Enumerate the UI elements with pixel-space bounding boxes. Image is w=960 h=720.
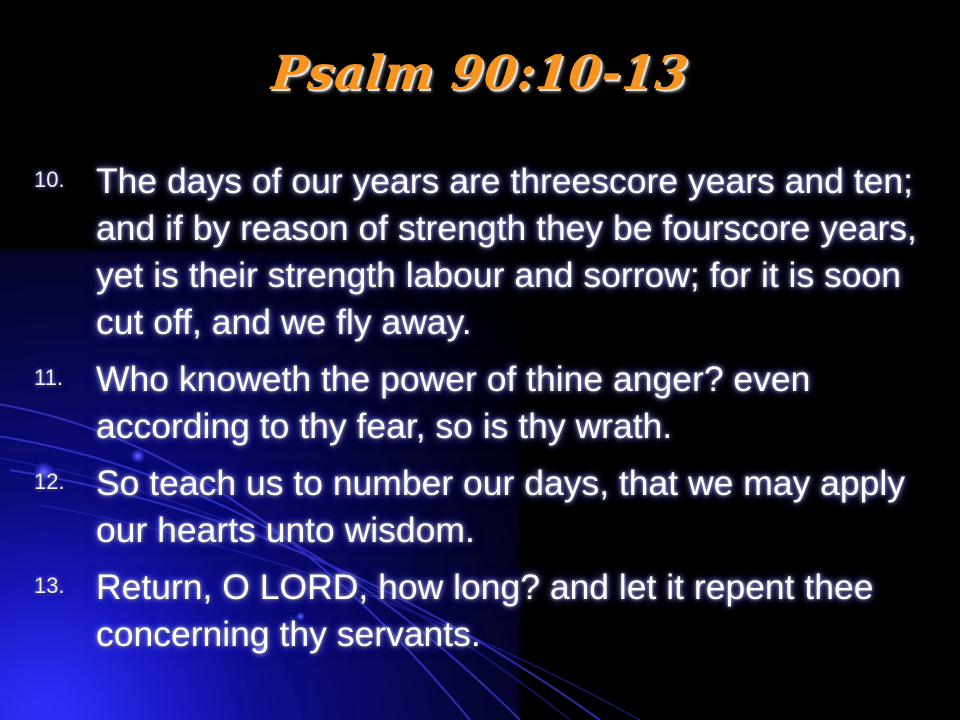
verse-text-13: Return, O LORD, how long? and let it rep… bbox=[96, 567, 874, 654]
page-title: Psalm 90:10-13 bbox=[269, 46, 691, 101]
verse-list: 10. The days of our years are threescore… bbox=[0, 158, 960, 668]
verse-item-11: 11. Who knoweth the power of thine anger… bbox=[0, 356, 960, 450]
verse-number-13: 13. bbox=[34, 573, 90, 599]
verse-item-13: 13. Return, O LORD, how long? and let it… bbox=[0, 564, 960, 658]
verse-text-11: Who knoweth the power of thine anger? ev… bbox=[96, 359, 810, 446]
verse-number-12: 12. bbox=[34, 469, 90, 495]
verse-item-12: 12. So teach us to number our days, that… bbox=[0, 460, 960, 554]
verse-item-10: 10. The days of our years are threescore… bbox=[0, 158, 960, 346]
verse-number-11: 11. bbox=[34, 365, 90, 391]
slide-title-container: Psalm 90:10-13 bbox=[0, 46, 960, 101]
verse-text-12: So teach us to number our days, that we … bbox=[96, 463, 905, 550]
verse-number-10: 10. bbox=[34, 167, 90, 193]
presentation-slide: Psalm 90:10-13 10. The days of our years… bbox=[0, 0, 960, 720]
verse-text-10: The days of our years are threescore yea… bbox=[96, 161, 917, 342]
